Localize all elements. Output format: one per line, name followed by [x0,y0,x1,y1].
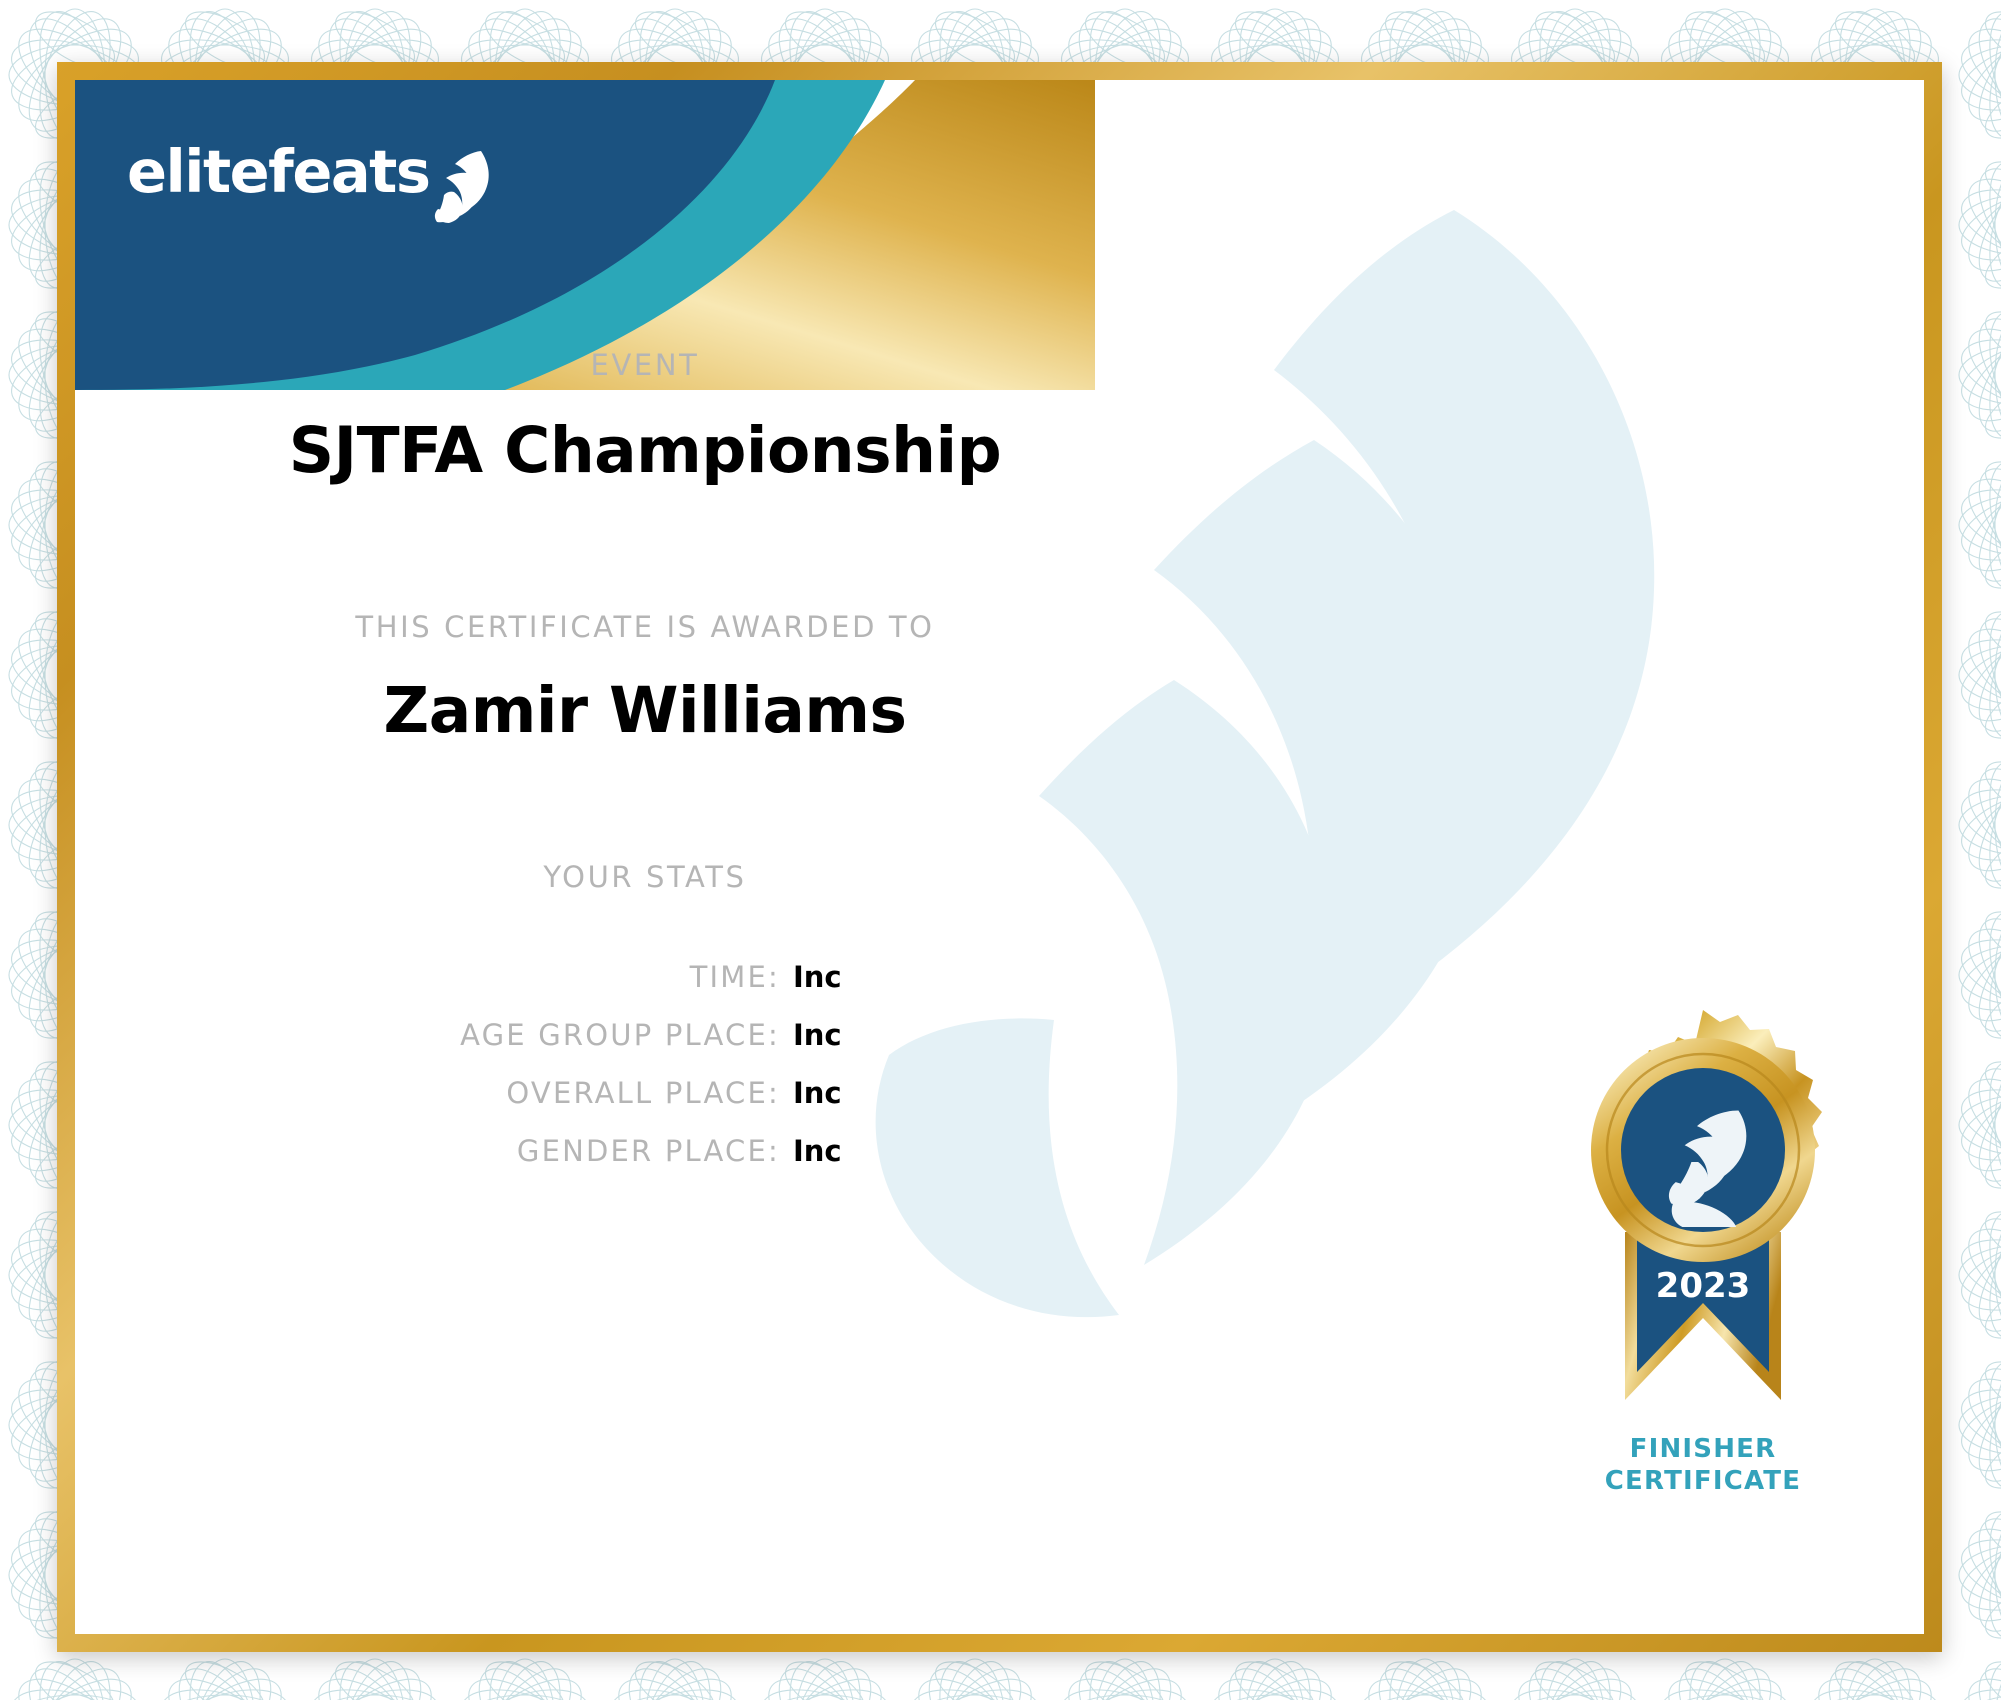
event-label: EVENT [145,348,1145,382]
finisher-medal-badge: 2023 FINISHER CERTIFICATE [1538,1000,1868,1600]
recipient-name: Zamir Williams [145,674,1145,747]
brand-wordmark: elitefeats [127,142,430,201]
stat-label: TIME: [350,960,780,994]
event-name: SJTFA Championship [145,414,1145,487]
stat-value: Inc [780,960,940,994]
certificate-page: elitefeats EVENT SJTFA Championship [0,0,2001,1700]
stats-heading: YOUR STATS [145,860,1145,894]
badge-caption-line2: CERTIFICATE [1538,1466,1868,1498]
stats-block: YOUR STATS TIME: Inc AGE GROUP PLACE: In… [145,860,1145,1168]
stat-row-time: TIME: Inc [145,960,1145,994]
stat-value: Inc [780,1018,940,1052]
stat-row-gender-place: GENDER PLACE: Inc [145,1134,1145,1168]
stat-row-age-group-place: AGE GROUP PLACE: Inc [145,1018,1145,1052]
brand-logo: elitefeats [127,142,500,201]
badge-caption-line1: FINISHER [1538,1434,1868,1466]
winged-foot-icon [434,147,500,223]
badge-year: 2023 [1656,1266,1751,1306]
badge-caption: FINISHER CERTIFICATE [1538,1434,1868,1497]
stat-label: GENDER PLACE: [350,1134,780,1168]
stat-label: AGE GROUP PLACE: [350,1018,780,1052]
stat-label: OVERALL PLACE: [350,1076,780,1110]
awarded-to-label: THIS CERTIFICATE IS AWARDED TO [145,610,1145,644]
gold-frame: elitefeats EVENT SJTFA Championship [57,62,1942,1652]
medal-graphic: 2023 [1553,1000,1853,1430]
stat-row-overall-place: OVERALL PLACE: Inc [145,1076,1145,1110]
stats-list: TIME: Inc AGE GROUP PLACE: Inc OVERALL P… [145,960,1145,1168]
event-block: EVENT SJTFA Championship [145,348,1145,487]
stat-value: Inc [780,1076,940,1110]
awarded-block: THIS CERTIFICATE IS AWARDED TO Zamir Wil… [145,610,1145,747]
certificate-body: elitefeats EVENT SJTFA Championship [75,80,1924,1634]
stat-value: Inc [780,1134,940,1168]
